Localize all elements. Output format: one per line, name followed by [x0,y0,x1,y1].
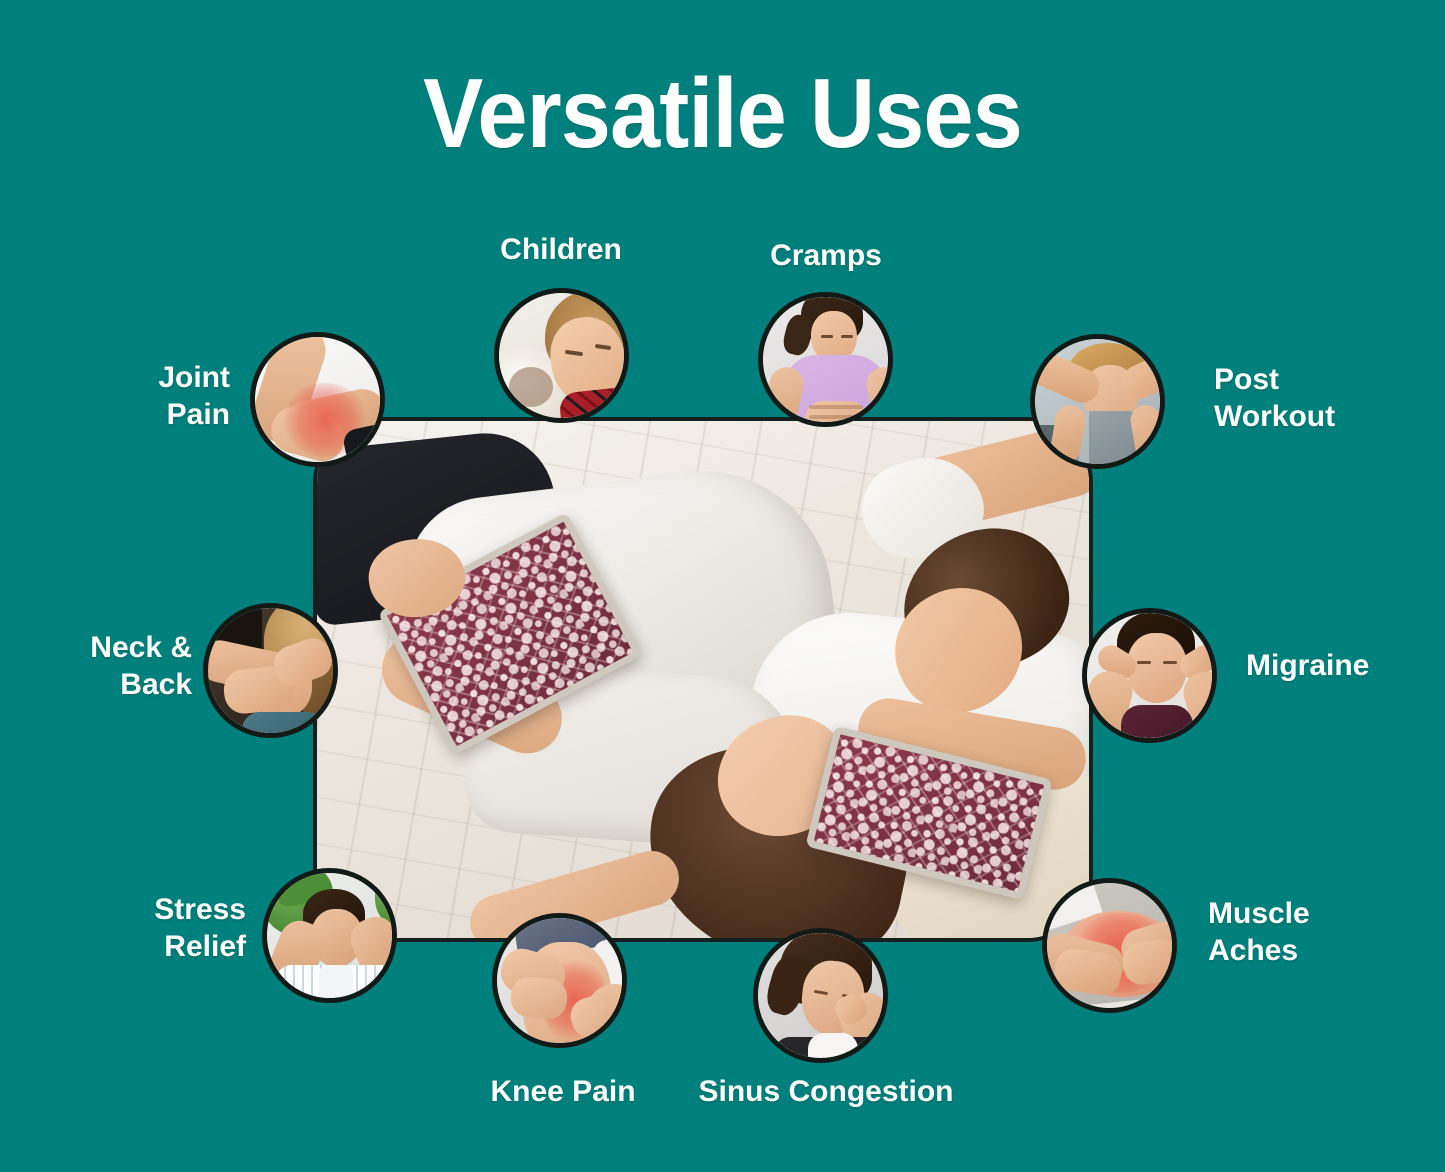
use-circle-stress-relief [262,868,397,1003]
neck-back-image [208,608,333,733]
use-circle-knee-pain [492,913,627,1048]
use-circle-children [494,288,629,423]
use-label-joint-pain: Joint Pain [70,360,230,433]
migraine-image [1087,613,1212,738]
use-circle-muscle-aches [1042,878,1177,1013]
use-label-migraine: Migraine [1246,648,1445,685]
joint-pain-image [255,337,380,462]
sinus-congestion-image [758,933,883,1058]
use-label-knee-pain: Knee Pain [438,1074,688,1111]
use-circle-joint-pain [250,332,385,467]
use-label-muscle-aches: Muscle Aches [1208,896,1418,969]
use-label-post-workout: Post Workout [1214,362,1414,435]
use-circle-neck-back [203,603,338,738]
use-label-cramps: Cramps [726,238,926,275]
use-label-stress-relief: Stress Relief [70,892,246,965]
use-circle-sinus-congestion [753,928,888,1063]
center-product-photo [313,417,1093,942]
muscle-aches-image [1047,883,1172,1008]
use-circle-post-workout [1030,334,1165,469]
cramps-image [763,297,888,422]
post-workout-image [1035,339,1160,464]
use-circle-migraine [1082,608,1217,743]
children-image [499,293,624,418]
use-circle-cramps [758,292,893,427]
infographic-canvas: Versatile Uses Joint Pain [0,0,1445,1172]
use-label-children: Children [461,232,661,269]
stress-relief-image [267,873,392,998]
use-label-neck-back: Neck & Back [40,630,192,703]
knee-pain-image [497,918,622,1043]
use-label-sinus-congestion: Sinus Congestion [666,1074,986,1111]
page-title: Versatile Uses [58,62,1387,165]
